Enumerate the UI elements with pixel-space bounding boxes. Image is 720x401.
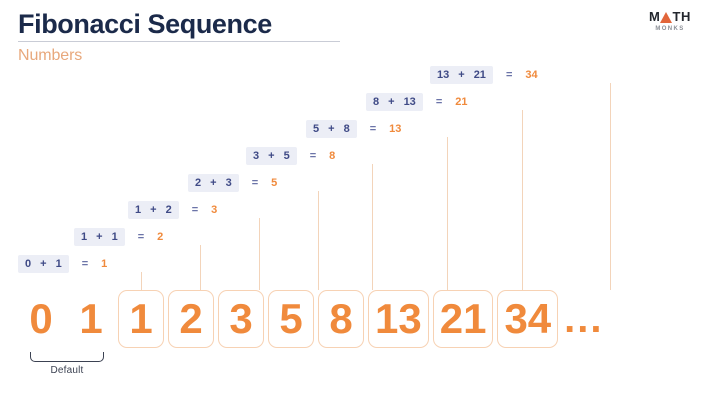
equation-result: 21 (455, 96, 467, 108)
plus-icon: + (150, 204, 156, 216)
plus-icon: + (96, 231, 102, 243)
equals-icon: = (252, 177, 258, 189)
logo-subtext: MONKS (634, 26, 706, 32)
equation-result: 5 (271, 177, 277, 189)
operand-a: 1 (81, 231, 87, 243)
sequence-number: 13 (368, 290, 429, 348)
operand-b: 8 (344, 123, 350, 135)
infographic-canvas: Fibonacci Sequence Numbers M TH MONKS 0+… (0, 0, 720, 401)
equation-result: 13 (389, 123, 401, 135)
operand-a: 3 (253, 150, 259, 162)
sequence-number: 2 (168, 290, 214, 348)
equals-icon: = (138, 231, 144, 243)
equation-operands: 2+3 (188, 174, 239, 192)
title-underline (18, 41, 340, 42)
bracket-icon (30, 352, 104, 362)
equation-operands: 13+21 (430, 66, 493, 84)
page-subtitle: Numbers (18, 45, 340, 67)
equation-row: 5+8=13 (306, 120, 401, 138)
default-seed-group: Default (30, 352, 104, 376)
math-monks-logo: M TH MONKS (634, 10, 706, 32)
equation-operands: 5+8 (306, 120, 357, 138)
equation-operands: 0+1 (18, 255, 69, 273)
sequence-ellipsis: ... (562, 290, 609, 348)
operand-a: 0 (25, 258, 31, 270)
equation-result: 34 (525, 69, 537, 81)
sequence-strip: 0112358132134... (18, 288, 610, 350)
equation-operands: 3+5 (246, 147, 297, 165)
header: Fibonacci Sequence Numbers (18, 8, 340, 67)
equation-row: 13+21=34 (430, 66, 538, 84)
sequence-number: 1 (118, 290, 164, 348)
equation-row: 0+1=1 (18, 255, 107, 273)
operand-b: 21 (474, 69, 486, 81)
sequence-number: 21 (433, 290, 494, 348)
operand-b: 3 (226, 177, 232, 189)
equals-icon: = (436, 96, 442, 108)
equation-row: 3+5=8 (246, 147, 335, 165)
sequence-number: 0 (18, 290, 64, 348)
connector-line (318, 191, 319, 290)
connector-line (522, 110, 523, 290)
equation-row: 1+1=2 (74, 228, 163, 246)
equation-operands: 1+2 (128, 201, 179, 219)
plus-icon: + (458, 69, 464, 81)
logo-letter-m: M (649, 10, 660, 24)
equals-icon: = (192, 204, 198, 216)
connector-line (259, 218, 260, 290)
equals-icon: = (506, 69, 512, 81)
sequence-number: 3 (218, 290, 264, 348)
equation-row: 8+13=21 (366, 93, 468, 111)
operand-a: 1 (135, 204, 141, 216)
operand-a: 2 (195, 177, 201, 189)
equation-result: 3 (211, 204, 217, 216)
connector-line (610, 83, 611, 290)
plus-icon: + (328, 123, 334, 135)
sequence-number: 1 (68, 290, 114, 348)
plus-icon: + (40, 258, 46, 270)
equation-operands: 8+13 (366, 93, 423, 111)
equals-icon: = (370, 123, 376, 135)
sequence-number: 5 (268, 290, 314, 348)
connector-line (447, 137, 448, 290)
operand-b: 1 (112, 231, 118, 243)
operand-b: 13 (404, 96, 416, 108)
equals-icon: = (82, 258, 88, 270)
logo-wordmark: M TH (634, 10, 706, 24)
plus-icon: + (388, 96, 394, 108)
operand-a: 8 (373, 96, 379, 108)
equation-row: 2+3=5 (188, 174, 277, 192)
operand-a: 5 (313, 123, 319, 135)
connector-line (200, 245, 201, 290)
triangle-icon (660, 12, 672, 23)
sequence-number: 8 (318, 290, 364, 348)
operand-b: 2 (166, 204, 172, 216)
plus-icon: + (210, 177, 216, 189)
equation-result: 8 (329, 150, 335, 162)
equation-operands: 1+1 (74, 228, 125, 246)
operand-a: 13 (437, 69, 449, 81)
equals-icon: = (310, 150, 316, 162)
logo-letters-th: TH (672, 10, 691, 24)
default-label: Default (30, 365, 104, 376)
operand-b: 1 (56, 258, 62, 270)
sequence-number: 34 (497, 290, 558, 348)
connector-line (372, 164, 373, 290)
operand-b: 5 (284, 150, 290, 162)
equation-result: 1 (101, 258, 107, 270)
page-title: Fibonacci Sequence (18, 8, 340, 40)
equation-row: 1+2=3 (128, 201, 217, 219)
equation-result: 2 (157, 231, 163, 243)
plus-icon: + (268, 150, 274, 162)
